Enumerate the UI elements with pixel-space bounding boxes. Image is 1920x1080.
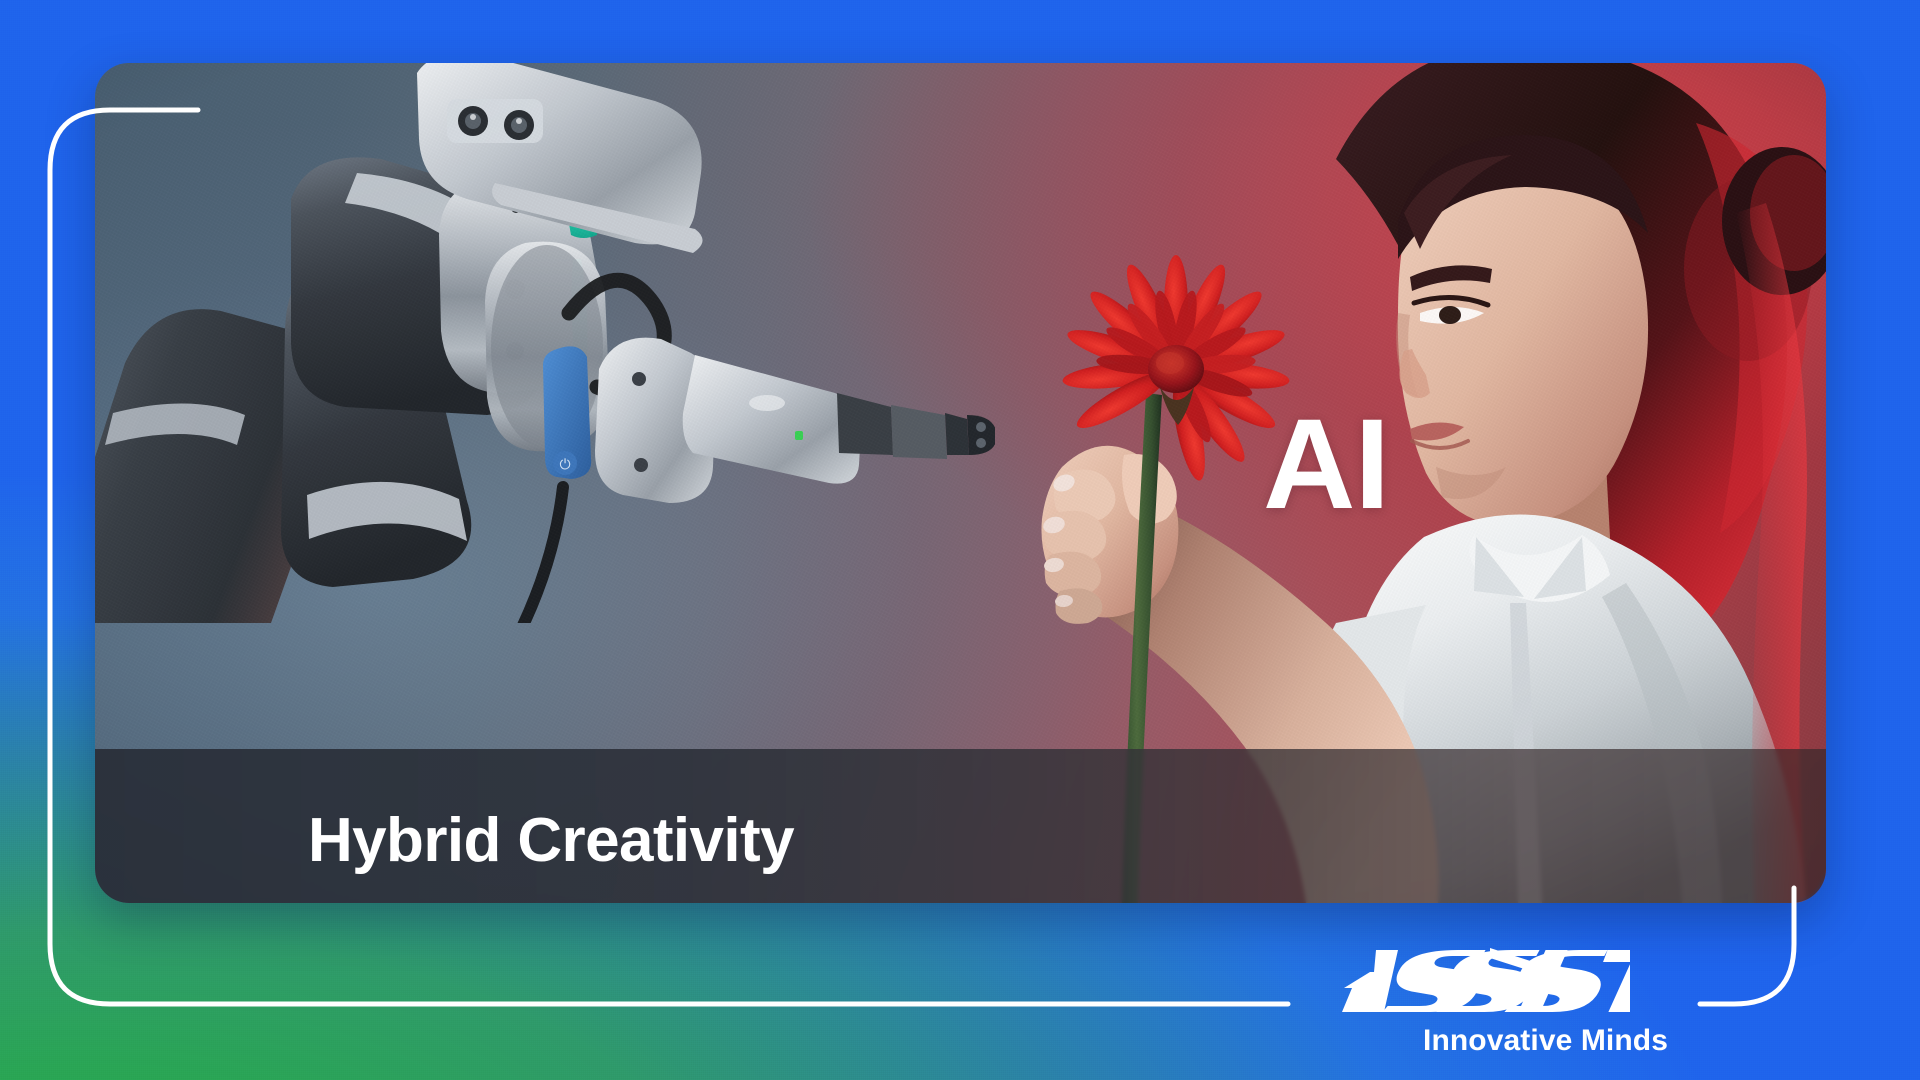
hero-photo: ⏻ — [95, 63, 1826, 903]
assist-tagline: Innovative Minds — [1423, 1024, 1668, 1058]
banner-title: Hybrid Creativity — [308, 805, 794, 876]
assist-wordmark — [1340, 948, 1670, 1014]
assist-logo[interactable]: Innovative Minds — [1340, 948, 1670, 1060]
ai-overlay-label: AI — [1263, 406, 1389, 524]
banner-canvas: ⏻ — [0, 0, 1920, 1080]
